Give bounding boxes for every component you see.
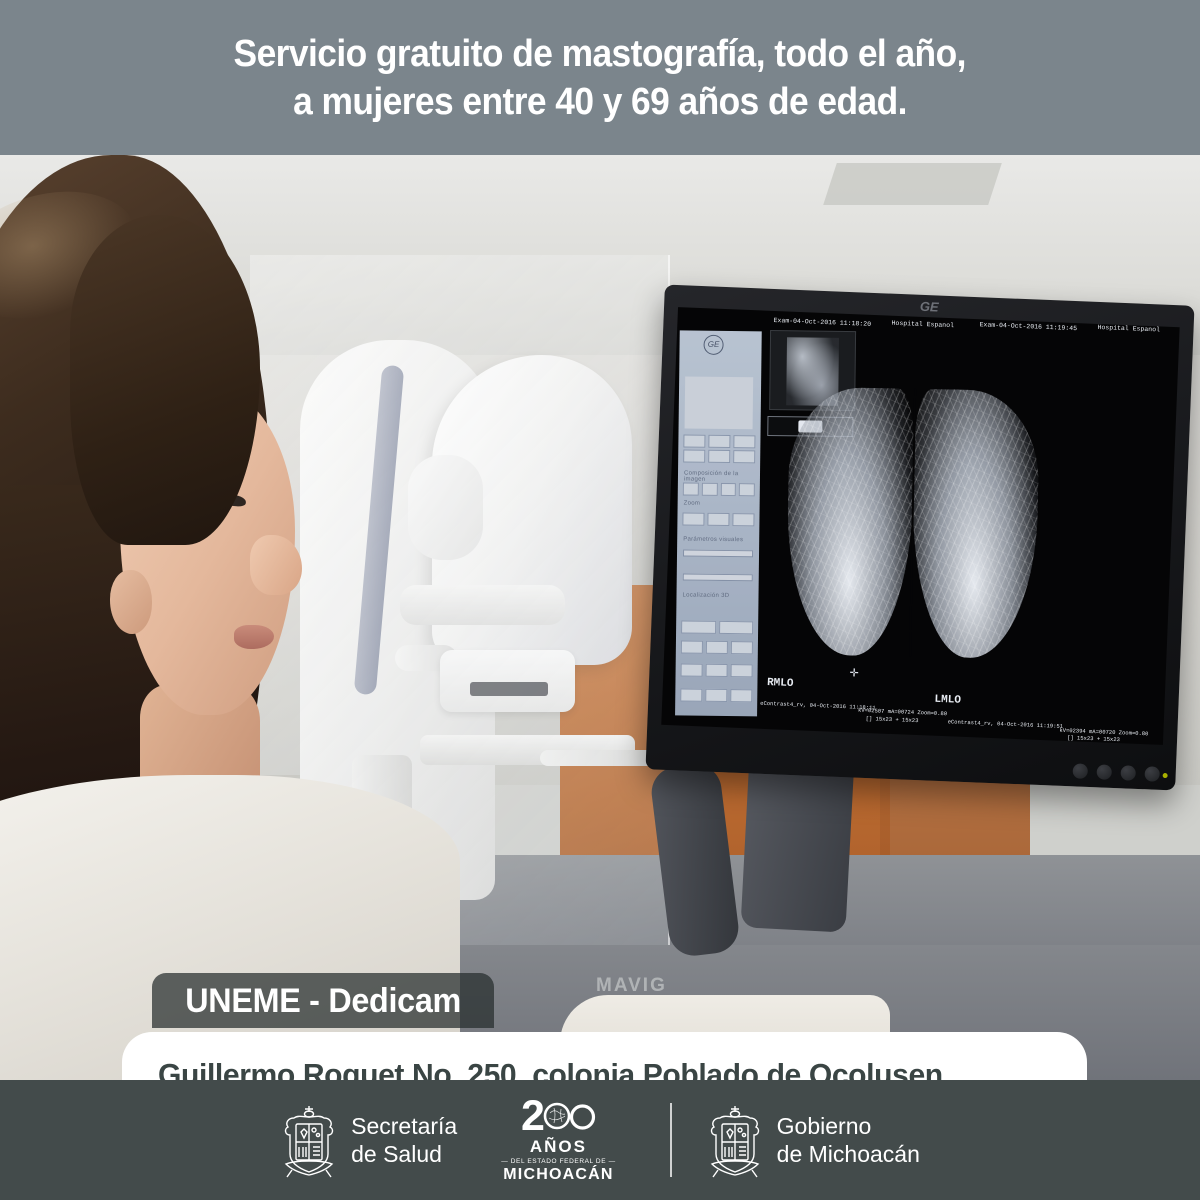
viewer-layout-button[interactable] <box>683 482 699 495</box>
viewer-tool-button[interactable] <box>681 640 703 653</box>
monitor-button-row[interactable] <box>1072 763 1160 781</box>
salud-line-2: de Salud <box>351 1140 457 1168</box>
viewer-tool-button[interactable] <box>708 450 730 463</box>
gobierno-line-1: Gobierno <box>777 1112 920 1140</box>
viewer-level-slider[interactable] <box>683 573 753 581</box>
viewer-layout-button[interactable] <box>739 483 755 496</box>
mammogram-right-mlo <box>785 386 915 656</box>
viewer-tool-button[interactable] <box>719 621 754 634</box>
hospital-label-left: Hospital Espanol <box>891 320 954 329</box>
viewer-bottom-row-3[interactable] <box>681 663 753 677</box>
monitor-power-led-icon <box>1163 773 1168 778</box>
viewer-layout-button[interactable] <box>720 483 736 496</box>
viewer-patient-thumbnail[interactable] <box>685 376 754 429</box>
bicentennial-state-label: MICHOACÁN <box>503 1166 613 1184</box>
hospital-label-right: Hospital Espanol <box>1097 324 1160 333</box>
mavig-shield-label: MAVIG <box>596 975 667 997</box>
gobierno-de-michoacan-logo: Gobierno de Michoacán <box>706 1102 920 1178</box>
viewer-bottom-row-1[interactable] <box>681 620 753 634</box>
salud-line-1: Secretaría <box>351 1112 457 1140</box>
viewer-tool-button[interactable] <box>731 641 753 654</box>
viewer-tool-button[interactable] <box>706 641 728 654</box>
footer-bar: Secretaría de Salud 2 <box>0 1080 1200 1200</box>
study-header-right: Exam-04-Oct-2016 11:19:45 <box>979 321 1077 332</box>
viewer-zoom-button[interactable] <box>682 512 704 525</box>
secretaria-de-salud-logo: Secretaría de Salud <box>280 1102 457 1178</box>
clinic-name-label: UNEME - Dedicam <box>185 982 461 1021</box>
crosshair-icon: ✛ <box>849 666 859 679</box>
view-label-rmlo: RMLO <box>767 677 794 690</box>
viewer-button-row-2[interactable] <box>683 449 755 463</box>
technique-size-left: [] 15x23 + 15x23 <box>866 715 919 724</box>
header-line-2: a mujeres entre 40 y 69 años de edad. <box>293 78 907 126</box>
monitor-up-button[interactable] <box>1096 764 1112 780</box>
viewer-button-row-1[interactable] <box>683 434 755 448</box>
breast-tissue-texture <box>910 389 1040 659</box>
monitor-menu-button[interactable] <box>1072 763 1088 779</box>
monitor-ge-logo-icon: GE <box>920 299 939 315</box>
bicentennial-emblem-icon <box>542 1100 572 1132</box>
bicentennial-rule-label: — DEL ESTADO FEDERAL DE — <box>501 1158 615 1165</box>
ceiling-panel <box>823 163 1002 205</box>
viewer-tool-panel[interactable]: GE Composición de la imagen <box>675 330 762 716</box>
bicentennial-anos-label: AÑOS <box>530 1137 587 1157</box>
header-line-1: Servicio gratuito de mastografía, todo e… <box>234 30 966 78</box>
gobierno-line-2: de Michoacán <box>777 1140 920 1168</box>
view-label-lmlo: LMLO <box>934 694 961 707</box>
header-banner: Servicio gratuito de mastografía, todo e… <box>0 0 1200 155</box>
viewer-tool-button[interactable] <box>680 688 702 701</box>
footer-divider <box>670 1103 672 1177</box>
michoacan-coat-of-arms-icon <box>706 1102 764 1178</box>
viewer-tool-button[interactable] <box>730 689 752 702</box>
clinic-info-card: Guillermo Roquet No. 250, colonia Poblad… <box>122 1032 1087 1080</box>
study-header-left: Exam-04-Oct-2016 11:18:20 <box>773 317 871 328</box>
viewer-bottom-row-2[interactable] <box>681 640 753 654</box>
monitor-power-button[interactable] <box>1144 766 1160 782</box>
technique-text-right: eContrast4_rv, 04-Oct-2016 11:19:51 <box>947 718 1063 730</box>
viewer-tool-button[interactable] <box>706 664 728 677</box>
michoacan-coat-of-arms-icon <box>280 1102 338 1178</box>
viewer-section-label-composition: Composición de la imagen <box>684 470 760 483</box>
viewer-tool-button[interactable] <box>733 450 755 463</box>
technique-size-right: [] 15x23 + 15x23 <box>1067 734 1120 743</box>
viewer-layout-row[interactable] <box>683 482 755 496</box>
photograph: GE MAVIG PB 15 lat <box>0 155 1200 1080</box>
viewer-tool-button[interactable] <box>708 435 730 448</box>
monitor-stand-neck <box>740 752 854 932</box>
bicentennial-ring-icon <box>569 1100 596 1132</box>
bicentennial-digit-2: 2 <box>521 1096 543 1136</box>
monitor-down-button[interactable] <box>1120 765 1136 781</box>
breast-tissue-texture <box>785 386 915 656</box>
viewer-tool-button[interactable] <box>683 434 705 447</box>
viewer-zoom-button[interactable] <box>707 513 729 526</box>
bicentennial-logo: 2 AÑOS — DEL ESTADO FEDERAL DE — MICHOAC… <box>501 1096 615 1184</box>
viewer-zoom-row[interactable] <box>682 512 754 526</box>
clinic-address: Guillermo Roquet No. 250, colonia Poblad… <box>158 1054 1059 1080</box>
diagnostic-monitor: GE GE Composición de <box>645 285 1194 791</box>
mammogram-image-pair[interactable] <box>785 386 1040 659</box>
viewer-zoom-button[interactable] <box>732 513 754 526</box>
mammogram-left-mlo <box>910 389 1040 659</box>
viewer-layout-button[interactable] <box>701 483 717 496</box>
gobierno-de-michoacan-text: Gobierno de Michoacán <box>777 1112 920 1168</box>
bicentennial-number: 2 <box>521 1096 596 1136</box>
secretaria-de-salud-text: Secretaría de Salud <box>351 1112 457 1168</box>
viewer-tool-button[interactable] <box>681 663 703 676</box>
viewer-tool-button[interactable] <box>681 620 716 633</box>
technician-ear <box>110 570 152 634</box>
viewer-section-label-visual-params: Parámetros visuales <box>683 536 743 543</box>
viewer-window-slider[interactable] <box>683 549 753 557</box>
technician-hair-front <box>70 215 260 545</box>
poster-root: Servicio gratuito de mastografía, todo e… <box>0 0 1200 1200</box>
dicom-viewer-screen[interactable]: GE Composición de la imagen <box>661 307 1179 745</box>
viewer-section-label-zoom: Zoom <box>684 500 701 506</box>
viewer-ge-logo-icon: GE <box>703 335 723 355</box>
viewer-tool-button[interactable] <box>731 664 753 677</box>
viewer-bottom-row-4[interactable] <box>680 688 752 702</box>
viewer-section-label-3d-localization: Localización 3D <box>682 592 729 599</box>
viewer-tool-button[interactable] <box>683 449 705 462</box>
viewer-tool-button[interactable] <box>705 689 727 702</box>
clinic-name-tab: UNEME - Dedicam <box>152 973 494 1028</box>
viewer-tool-button[interactable] <box>733 435 755 448</box>
